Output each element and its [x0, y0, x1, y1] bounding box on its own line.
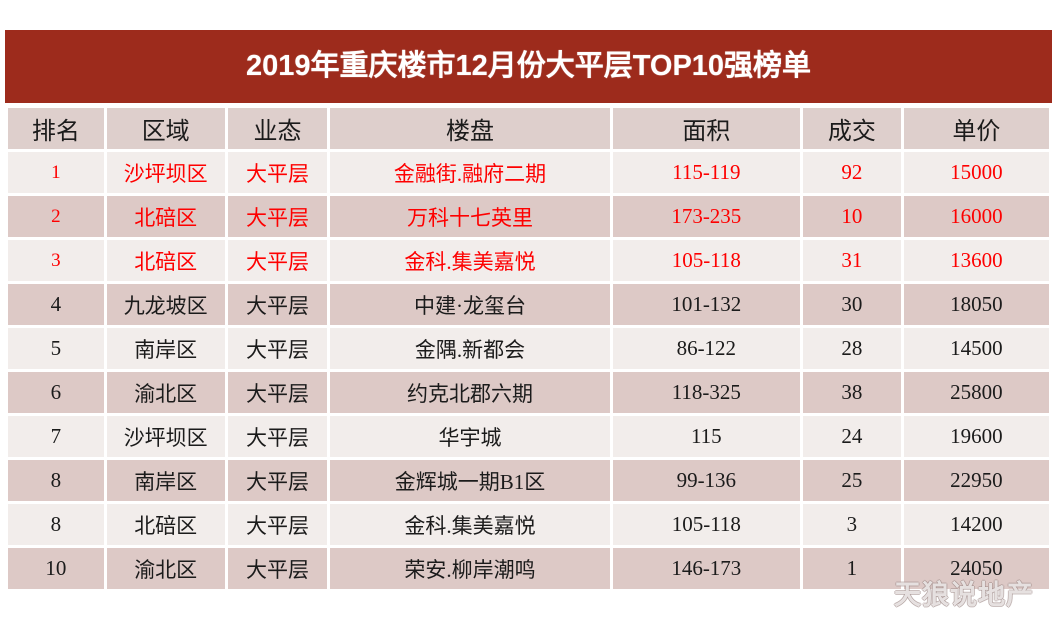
cell-rank[interactable]: 8	[8, 504, 104, 545]
cell-size[interactable]: 105-118	[613, 504, 800, 545]
cell-rank[interactable]: 7	[8, 416, 104, 457]
cell-proj[interactable]: 中建·龙玺台	[330, 284, 609, 325]
cell-price[interactable]: 14500	[904, 328, 1049, 369]
table-row[interactable]: 6渝北区大平层约克北郡六期118-3253825800	[8, 372, 1049, 413]
cell-price[interactable]: 16000	[904, 196, 1049, 237]
cell-area[interactable]: 沙坪坝区	[107, 152, 225, 193]
cell-size[interactable]: 118-325	[613, 372, 800, 413]
cell-price[interactable]: 13600	[904, 240, 1049, 281]
report-title-bar: 2019年重庆楼市12月份大平层TOP10强榜单	[5, 30, 1052, 103]
cell-area[interactable]: 渝北区	[107, 372, 225, 413]
table-row[interactable]: 2北碚区大平层万科十七英里173-2351016000	[8, 196, 1049, 237]
cell-area[interactable]: 北碚区	[107, 196, 225, 237]
table-row[interactable]: 5南岸区大平层金隅.新都会86-1222814500	[8, 328, 1049, 369]
column-header-type[interactable]: 业态	[228, 108, 328, 149]
column-header-rank[interactable]: 排名	[8, 108, 104, 149]
column-header-price[interactable]: 单价	[904, 108, 1049, 149]
cell-proj[interactable]: 荣安.柳岸潮鸣	[330, 548, 609, 589]
cell-size[interactable]: 173-235	[613, 196, 800, 237]
cell-proj[interactable]: 金科.集美嘉悦	[330, 240, 609, 281]
cell-area[interactable]: 九龙坡区	[107, 284, 225, 325]
cell-type[interactable]: 大平层	[228, 284, 328, 325]
cell-size[interactable]: 86-122	[613, 328, 800, 369]
cell-price[interactable]: 22950	[904, 460, 1049, 501]
column-header-size[interactable]: 面积	[613, 108, 800, 149]
cell-deal[interactable]: 10	[803, 196, 901, 237]
cell-size[interactable]: 115-119	[613, 152, 800, 193]
cell-deal[interactable]: 30	[803, 284, 901, 325]
cell-proj[interactable]: 约克北郡六期	[330, 372, 609, 413]
cell-size[interactable]: 115	[613, 416, 800, 457]
cell-size[interactable]: 105-118	[613, 240, 800, 281]
cell-rank[interactable]: 5	[8, 328, 104, 369]
cell-type[interactable]: 大平层	[228, 196, 328, 237]
cell-size[interactable]: 101-132	[613, 284, 800, 325]
cell-type[interactable]: 大平层	[228, 460, 328, 501]
column-header-area[interactable]: 区域	[107, 108, 225, 149]
cell-type[interactable]: 大平层	[228, 504, 328, 545]
column-header-deal[interactable]: 成交	[803, 108, 901, 149]
cell-price[interactable]: 25800	[904, 372, 1049, 413]
cell-deal[interactable]: 38	[803, 372, 901, 413]
cell-deal[interactable]: 28	[803, 328, 901, 369]
table-row[interactable]: 3北碚区大平层金科.集美嘉悦105-1183113600	[8, 240, 1049, 281]
cell-proj[interactable]: 金辉城一期B1区	[330, 460, 609, 501]
cell-price[interactable]: 15000	[904, 152, 1049, 193]
cell-type[interactable]: 大平层	[228, 152, 328, 193]
cell-deal[interactable]: 24	[803, 416, 901, 457]
table-header: 排名 区域 业态 楼盘 面积 成交 单价	[8, 108, 1049, 149]
cell-proj[interactable]: 华宇城	[330, 416, 609, 457]
cell-rank[interactable]: 8	[8, 460, 104, 501]
cell-size[interactable]: 99-136	[613, 460, 800, 501]
cell-rank[interactable]: 10	[8, 548, 104, 589]
cell-area[interactable]: 南岸区	[107, 328, 225, 369]
cell-rank[interactable]: 4	[8, 284, 104, 325]
cell-area[interactable]: 南岸区	[107, 460, 225, 501]
cell-rank[interactable]: 3	[8, 240, 104, 281]
cell-deal[interactable]: 1	[803, 548, 901, 589]
table-row[interactable]: 8北碚区大平层金科.集美嘉悦105-118314200	[8, 504, 1049, 545]
cell-area[interactable]: 北碚区	[107, 504, 225, 545]
cell-type[interactable]: 大平层	[228, 240, 328, 281]
table-row[interactable]: 4九龙坡区大平层中建·龙玺台101-1323018050	[8, 284, 1049, 325]
cell-area[interactable]: 沙坪坝区	[107, 416, 225, 457]
table-header-row: 排名 区域 业态 楼盘 面积 成交 单价	[8, 108, 1049, 149]
ranking-table: 排名 区域 业态 楼盘 面积 成交 单价 1沙坪坝区大平层金融街.融府二期115…	[5, 105, 1052, 592]
cell-proj[interactable]: 金科.集美嘉悦	[330, 504, 609, 545]
column-header-project[interactable]: 楼盘	[330, 108, 609, 149]
cell-rank[interactable]: 1	[8, 152, 104, 193]
page-title: 2019年重庆楼市12月份大平层TOP10强榜单	[246, 52, 811, 81]
cell-rank[interactable]: 6	[8, 372, 104, 413]
cell-type[interactable]: 大平层	[228, 372, 328, 413]
table-body: 1沙坪坝区大平层金融街.融府二期115-11992150002北碚区大平层万科十…	[8, 152, 1049, 589]
cell-deal[interactable]: 92	[803, 152, 901, 193]
cell-price[interactable]: 14200	[904, 504, 1049, 545]
table-row[interactable]: 8南岸区大平层金辉城一期B1区99-1362522950	[8, 460, 1049, 501]
cell-area[interactable]: 北碚区	[107, 240, 225, 281]
cell-price[interactable]: 19600	[904, 416, 1049, 457]
cell-area[interactable]: 渝北区	[107, 548, 225, 589]
cell-rank[interactable]: 2	[8, 196, 104, 237]
table-row[interactable]: 7沙坪坝区大平层华宇城1152419600	[8, 416, 1049, 457]
cell-type[interactable]: 大平层	[228, 548, 328, 589]
table-row[interactable]: 1沙坪坝区大平层金融街.融府二期115-1199215000	[8, 152, 1049, 193]
cell-deal[interactable]: 3	[803, 504, 901, 545]
cell-type[interactable]: 大平层	[228, 416, 328, 457]
cell-type[interactable]: 大平层	[228, 328, 328, 369]
cell-price[interactable]: 18050	[904, 284, 1049, 325]
table-row[interactable]: 10渝北区大平层荣安.柳岸潮鸣146-173124050	[8, 548, 1049, 589]
cell-proj[interactable]: 金隅.新都会	[330, 328, 609, 369]
cell-proj[interactable]: 金融街.融府二期	[330, 152, 609, 193]
spreadsheet-canvas: 2019年重庆楼市12月份大平层TOP10强榜单 排名 区域 业态 楼盘 面积 …	[0, 0, 1057, 625]
cell-size[interactable]: 146-173	[613, 548, 800, 589]
cell-proj[interactable]: 万科十七英里	[330, 196, 609, 237]
cell-price[interactable]: 24050	[904, 548, 1049, 589]
cell-deal[interactable]: 31	[803, 240, 901, 281]
cell-deal[interactable]: 25	[803, 460, 901, 501]
